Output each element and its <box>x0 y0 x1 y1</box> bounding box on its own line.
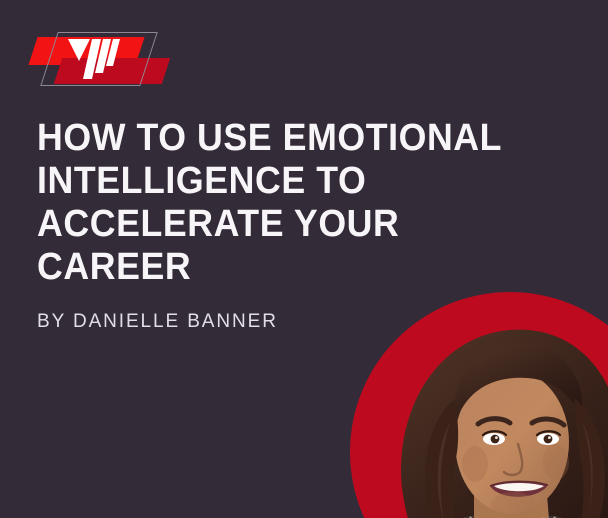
title-line-3: ACCELERATE YOUR <box>37 203 479 246</box>
title-line-2: INTELLIGENCE TO <box>37 160 479 203</box>
logo-chevron-mark <box>68 35 120 81</box>
presentation-slide: HOW TO USE EMOTIONAL INTELLIGENCE TO ACC… <box>0 0 608 518</box>
photo-circle-backdrop <box>350 292 608 518</box>
author-portrait <box>350 292 608 518</box>
page-title: HOW TO USE EMOTIONAL INTELLIGENCE TO ACC… <box>37 117 507 289</box>
title-line-1: HOW TO USE EMOTIONAL <box>37 117 479 160</box>
author-byline: BY DANIELLE BANNER <box>37 311 278 333</box>
author-photo-container <box>350 292 608 518</box>
brand-logo <box>30 28 170 90</box>
title-line-4: CAREER <box>37 246 479 289</box>
